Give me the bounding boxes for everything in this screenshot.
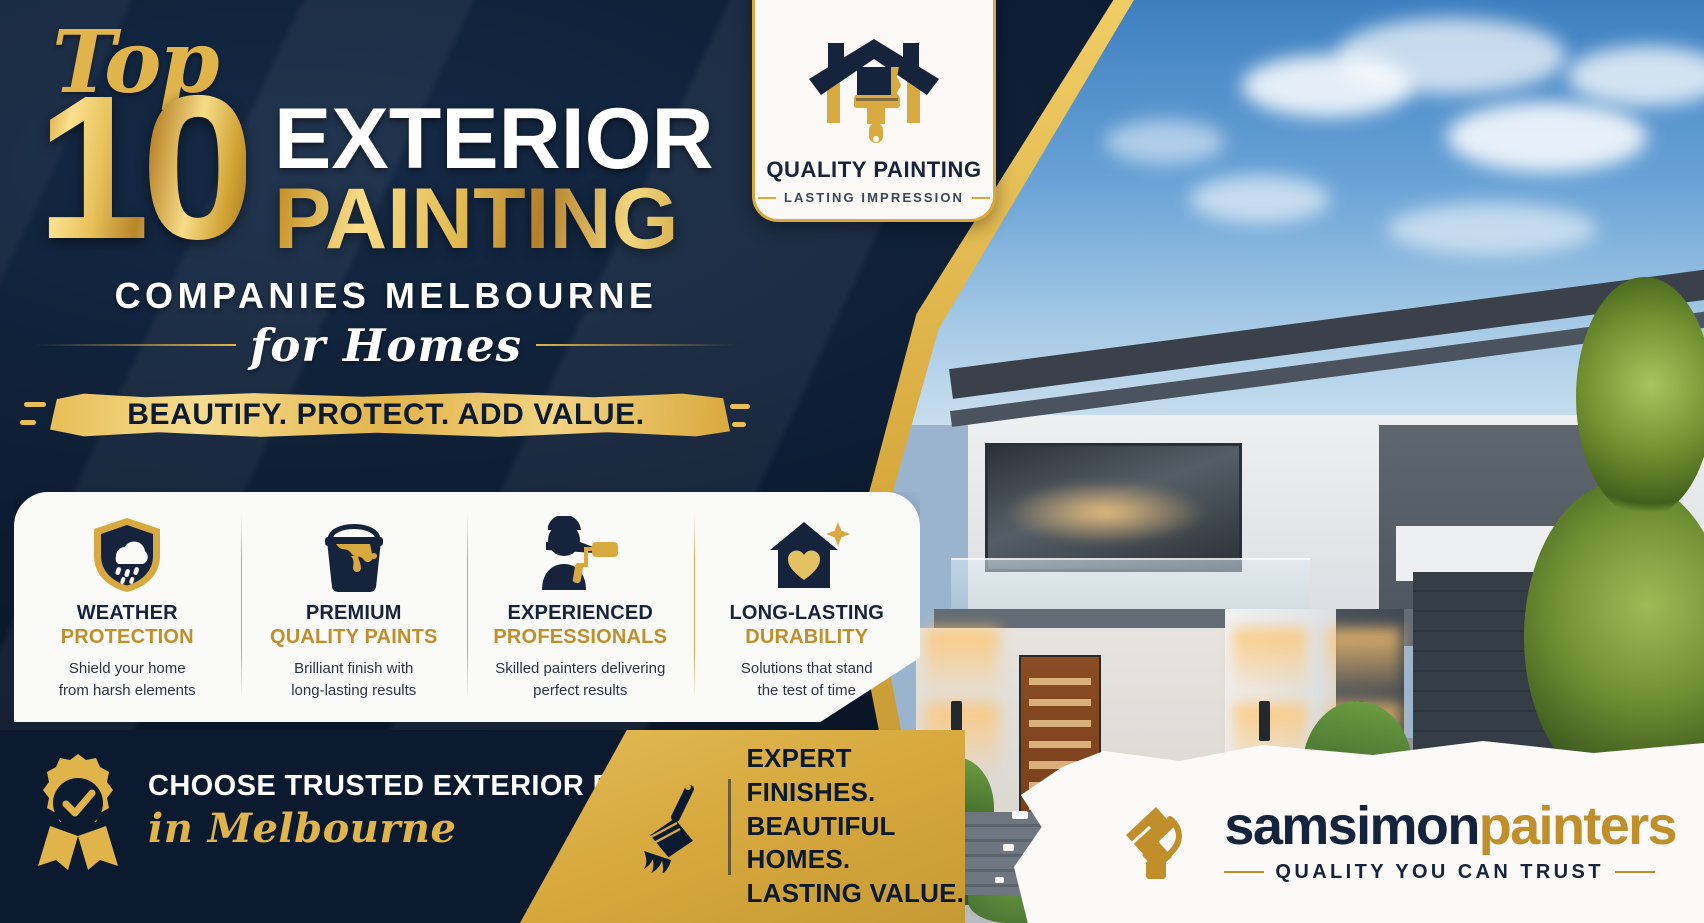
badge-subtitle-row: LASTING IMPRESSION <box>758 190 990 205</box>
badge-title: QUALITY PAINTING <box>766 157 981 183</box>
brand-text: samsimonpainters QUALITY YOU CAN TRUST <box>1224 799 1676 884</box>
cloud <box>1105 120 1225 164</box>
shield-rain-icon <box>90 516 164 594</box>
headline-line1: EXTERIOR <box>274 100 714 179</box>
paintbrush-icon <box>638 781 712 873</box>
feature-icon-wrap <box>251 516 458 594</box>
feature-title-line1: LONG-LASTING <box>704 602 911 625</box>
painter-roller-icon <box>534 516 626 594</box>
cta-panel-line3: LASTING VALUE. <box>747 877 965 911</box>
feature-description-line2: perfect results <box>477 680 684 702</box>
feature-title-line2: PROTECTION <box>24 626 231 649</box>
feature-icon-wrap <box>477 516 684 594</box>
house-paintbrush-icon <box>799 35 949 153</box>
award-ribbon-check-icon <box>30 752 126 870</box>
paint-speck <box>1012 811 1028 819</box>
brush-flick <box>730 404 750 409</box>
feature-icon-wrap <box>704 516 911 594</box>
brand-tagline: QUALITY YOU CAN TRUST <box>1275 861 1603 884</box>
divider-right <box>972 197 990 199</box>
brand-tagline-row: QUALITY YOU CAN TRUST <box>1224 861 1676 884</box>
feature-title-line2: PROFESSIONALS <box>477 626 684 649</box>
brand-name-part1: samsimon <box>1224 796 1478 856</box>
brush-roller-icon <box>1116 795 1208 887</box>
feature-description-line2: from harsh elements <box>24 680 231 702</box>
feature-title-line1: WEATHER <box>24 602 231 625</box>
divider-left <box>758 197 776 199</box>
poster-root: Top 10 EXTERIOR PAINTING COMPANIES MELBO… <box>0 0 1704 923</box>
cloud <box>1336 18 1566 94</box>
interior-glow <box>1002 480 1207 545</box>
cta-panel-text: EXPERT FINISHES. BEAUTIFUL HOMES. LASTIN… <box>747 742 965 911</box>
wall-sconce <box>1259 701 1270 741</box>
quality-painting-badge: QUALITY PAINTING LASTING IMPRESSION <box>752 0 996 222</box>
feature-title-line1: PREMIUM <box>251 602 458 625</box>
divider-left <box>36 344 236 346</box>
divider-right <box>536 344 736 346</box>
brush-flick <box>24 402 46 407</box>
feature-icon-wrap <box>24 516 231 594</box>
headline-tagline: BEAUTIFY. PROTECT. ADD VALUE. <box>127 398 644 432</box>
feature-description-line1: Brilliant finish with <box>251 658 458 680</box>
brand-name-part2: painters <box>1479 796 1676 856</box>
tree <box>1576 277 1704 517</box>
paint-speck <box>1003 844 1014 851</box>
feature-description-line1: Shield your home <box>24 658 231 680</box>
feature-title-line1: EXPERIENCED <box>477 602 684 625</box>
brush-flick <box>732 422 746 427</box>
feature-description-line1: Skilled painters delivering <box>477 658 684 680</box>
cloud <box>1387 203 1597 255</box>
brand-name: samsimonpainters <box>1224 799 1676 853</box>
feature-description-line1: Solutions that stand <box>704 658 911 680</box>
tagline-brush-band: BEAUTIFY. PROTECT. ADD VALUE. <box>36 386 736 444</box>
features-card: WEATHER PROTECTION Shield your home from… <box>14 492 920 722</box>
paint-bucket-icon <box>316 516 392 594</box>
divider-left <box>1224 871 1264 873</box>
headline-script: for Homes <box>250 319 522 372</box>
cta-panel-line1: EXPERT FINISHES. <box>747 742 965 810</box>
brush-flick <box>20 420 36 425</box>
badge-subtitle: LASTING IMPRESSION <box>784 190 964 205</box>
feature-title-line2: DURABILITY <box>704 626 911 649</box>
feature-premium-quality-paints: PREMIUM QUALITY PAINTS Brilliant finish … <box>241 492 468 722</box>
house-heart-sparkle-icon <box>764 516 850 594</box>
feature-description-line2: long-lasting results <box>251 680 458 702</box>
feature-experienced-professionals: EXPERIENCED PROFESSIONALS Skilled painte… <box>467 492 694 722</box>
script-line-row: for Homes <box>36 319 736 372</box>
headline-block: Top 10 EXTERIOR PAINTING COMPANIES MELBO… <box>36 26 736 444</box>
brand-logo: samsimonpainters QUALITY YOU CAN TRUST <box>1116 795 1676 887</box>
cta-divider <box>728 779 731 875</box>
feature-title-line2: QUALITY PAINTS <box>251 626 458 649</box>
headline-line2: PAINTING <box>274 179 714 261</box>
headline-number: 10 <box>36 84 246 252</box>
cta-bar: CHOOSE TRUSTED EXTERIOR PAINTERS in Melb… <box>0 730 965 923</box>
feature-weather-protection: WEATHER PROTECTION Shield your home from… <box>14 492 241 722</box>
divider-right <box>1615 871 1655 873</box>
cta-panel-line2: BEAUTIFUL HOMES. <box>747 810 965 878</box>
paint-speck <box>995 877 1004 883</box>
cloud <box>1447 102 1647 172</box>
